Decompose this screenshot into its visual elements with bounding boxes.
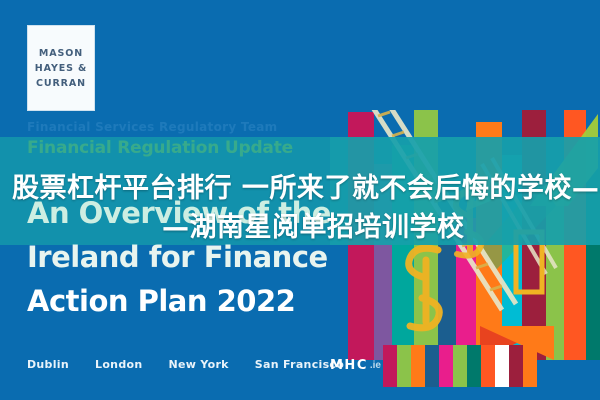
chip-10 — [509, 345, 523, 387]
chinese-overlay-line-1: 股票杠杆平台排行 一所来了就不会后悔的学校—— — [12, 166, 600, 205]
logo-line-2: HAYES & — [35, 63, 88, 74]
brand-colour-chips — [383, 345, 537, 387]
chip-8 — [481, 345, 495, 387]
logo-line-3: CURRAN — [36, 78, 86, 89]
chip-9 — [495, 345, 509, 387]
logo-line-1: MASON — [39, 48, 83, 59]
chip-3 — [411, 345, 425, 387]
chip-1 — [383, 345, 397, 387]
mhc-text: MHC — [330, 358, 368, 373]
mason-hayes-curran-logo: MASON HAYES & CURRAN — [27, 25, 95, 111]
chip-4 — [425, 345, 439, 387]
headline-faint-line: Financial Services Regulatory Team — [27, 120, 277, 134]
mhc-suffix: .ie — [370, 360, 381, 371]
city-london: London — [95, 358, 142, 371]
chip-7 — [467, 345, 481, 387]
headline-line-2: Ireland for Finance — [27, 240, 328, 274]
office-city-list: Dublin London New York San Francisco — [27, 358, 344, 371]
city-dublin: Dublin — [27, 358, 69, 371]
city-new-york: New York — [168, 358, 228, 371]
marketing-banner: MASON HAYES & CURRAN Financial Services … — [0, 0, 600, 400]
mhc-brand-mark: MHC .ie — [330, 358, 381, 373]
chip-6 — [453, 345, 467, 387]
chinese-overlay-line-2: —湖南星阅单招培训学校 — [162, 205, 465, 244]
chip-2 — [397, 345, 411, 387]
chip-5 — [439, 345, 453, 387]
headline-line-3: Action Plan 2022 — [27, 284, 295, 318]
chip-11 — [523, 345, 537, 387]
